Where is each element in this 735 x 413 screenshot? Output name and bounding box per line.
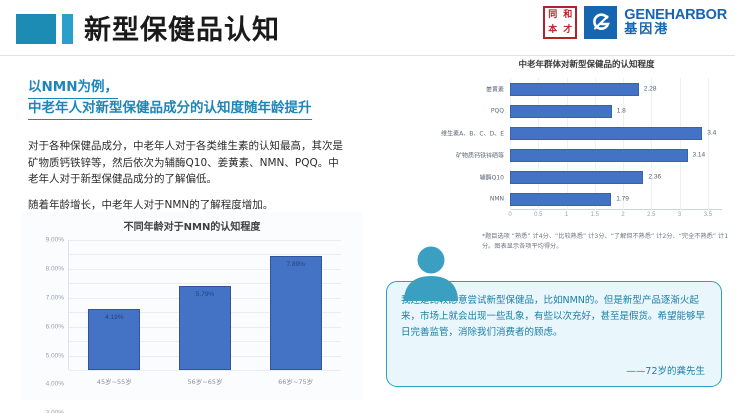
lead-heading: 以NMN为例， 中老年人对新型保健品成分的认知度随年龄提升 (28, 78, 368, 120)
bar-chart-category-label: 姜黄素 (486, 85, 504, 94)
column-chart-gridline: 9.00% (69, 240, 341, 241)
column-chart-bar-value: 4.19% (89, 314, 139, 321)
header-accent-block-small (62, 14, 73, 44)
body-text: 对于各种保健品成分，中老年人对于各类维生素的认知最高，其次是矿物质钙铁锌等，然后… (28, 138, 348, 213)
bar-chart-gridline (510, 78, 511, 210)
brand-name-cn: 基因港 (624, 23, 727, 37)
bar-chart-x-tick: 0 (508, 212, 511, 218)
bar-chart-gridline (708, 78, 709, 210)
quote-attribution: ——72岁的龚先生 (626, 363, 705, 377)
body-paragraph-1: 对于各种保健品成分，中老年人对于各类维生素的认知最高，其次是矿物质钙铁锌等，然后… (28, 138, 348, 188)
bar-chart-row: NMN1.79 (510, 193, 722, 206)
column-chart-y-tick: 9.00% (46, 237, 64, 244)
column-chart-x-tick: 66岁~75岁 (256, 376, 336, 386)
brand-text: GENEHARBOR 基因港 (624, 8, 727, 37)
seal-stamp-icon: 同 和 本 才 (543, 6, 577, 39)
bar-chart-gridline (595, 78, 596, 210)
bar-chart-bar-value: 2.28 (644, 86, 657, 93)
bar-chart-category-label: NMN (490, 196, 504, 203)
bar-chart-x-axis (510, 209, 722, 210)
page-title: 新型保健品认知 (84, 8, 280, 47)
bar-chart-category-label: PQQ (491, 108, 504, 115)
bar-chart-gridline (567, 78, 568, 210)
bar-chart-x-tick: 2 (621, 212, 624, 218)
lead-heading-line-1: 以NMN为例， (28, 78, 118, 99)
bar-chart-bar[interactable] (510, 127, 702, 140)
bar-chart-gridline (651, 78, 652, 210)
column-chart-x-tick: 56岁~65岁 (165, 376, 245, 386)
seal-char-2: 和 (560, 8, 575, 23)
bar-chart-x-tick: 2.5 (647, 212, 655, 218)
seal-char-1: 同 (545, 8, 560, 23)
bar-chart-row: PQQ1.8 (510, 105, 722, 118)
seal-char-3: 本 (545, 23, 560, 38)
column-chart-title: 不同年龄对于NMN的认知程度 (22, 218, 362, 233)
brand-name-en: GENEHARBOR (624, 8, 727, 23)
column-chart-plot-area: 0.00%1.00%2.00%3.00%4.00%5.00%6.00%7.00%… (68, 240, 340, 370)
bar-chart-plot-area: 00.511.522.533.5姜黄素2.28PQQ1.8维生素A、B、C、D、… (510, 78, 722, 210)
bar-chart-bar[interactable] (510, 105, 612, 118)
bar-chart-x-tick: 1 (565, 212, 568, 218)
logo-cluster: 同 和 本 才 GENEHARBOR 基因港 (543, 6, 727, 39)
bar-chart-x-tick: 3.5 (704, 212, 712, 218)
bar-chart-bar[interactable] (510, 193, 611, 206)
column-chart-y-tick: 6.00% (46, 323, 64, 330)
bar-chart-bar-value: 3.4 (707, 130, 716, 137)
header-divider (0, 55, 735, 56)
column-chart-y-tick: 8.00% (46, 265, 64, 272)
bar-chart-bar-value: 1.8 (617, 108, 626, 115)
bar-chart-bar-value: 2.36 (648, 174, 661, 181)
bar-chart-bar-value: 3.14 (693, 152, 706, 159)
column-chart-bar[interactable]: 4.19% (88, 309, 140, 370)
body-paragraph-2: 随着年龄增长，中老年人对于NMN的了解程度增加。 (28, 197, 348, 214)
column-chart-x-tick: 45岁~55岁 (74, 376, 154, 386)
column-chart-y-tick: 7.00% (46, 294, 64, 301)
bar-chart-x-tick: 3 (678, 212, 681, 218)
ingredient-awareness-bar-chart: 中老年群体对新型保健品的认知程度 00.511.522.533.5姜黄素2.28… (438, 58, 735, 228)
column-chart-y-tick: 4.00% (46, 381, 64, 388)
column-chart-y-tick: 5.00% (46, 352, 64, 359)
bar-chart-title: 中老年群体对新型保健品的认知程度 (438, 58, 735, 70)
bar-chart-bar[interactable] (510, 83, 639, 96)
column-chart-bar[interactable]: 5.79% (179, 286, 231, 370)
slide-header: 新型保健品认知 同 和 本 才 GENEHARBOR 基因港 (0, 0, 735, 56)
bar-chart-row: 矿物质钙铁锌硒等3.14 (510, 149, 722, 162)
column-chart-gridline: 0.00% (69, 370, 341, 371)
column-chart-bar-value: 7.89% (271, 261, 321, 268)
geneharbor-logo-icon (584, 6, 617, 39)
person-silhouette-icon (400, 243, 462, 301)
bar-chart-bar[interactable] (510, 149, 688, 162)
bar-chart-row: 辅酶Q102.36 (510, 171, 722, 184)
bar-chart-gridline (680, 78, 681, 210)
lead-heading-line-2: 中老年人对新型保健品成分的认知度随年龄提升 (28, 99, 312, 120)
bar-chart-row: 维生素A、B、C、D、E3.4 (510, 127, 722, 140)
bar-chart-row: 姜黄素2.28 (510, 83, 722, 96)
chart-footnote: *题目选项 “熟悉” 计4分、“比较熟悉” 计3分、“了解但不熟悉” 计2分、“… (482, 232, 732, 252)
bar-chart-category-label: 维生素A、B、C、D、E (441, 129, 504, 138)
bar-chart-category-label: 辅酶Q10 (480, 173, 504, 182)
column-chart-bar[interactable]: 7.89% (270, 256, 322, 370)
bar-chart-category-label: 矿物质钙铁锌硒等 (456, 151, 504, 160)
seal-char-4: 才 (560, 23, 575, 38)
bar-chart-x-tick: 1.5 (591, 212, 599, 218)
bar-chart-x-tick: 0.5 (534, 212, 542, 218)
bar-chart-bar-value: 1.79 (616, 196, 629, 203)
header-accent-block-large (16, 14, 56, 44)
bar-chart-gridline (623, 78, 624, 210)
bar-chart-gridline (538, 78, 539, 210)
column-chart-bar-value: 5.79% (180, 291, 230, 298)
slide-canvas: 新型保健品认知 同 和 本 才 GENEHARBOR 基因港 以NMN为例， (0, 0, 735, 413)
bar-chart-bar[interactable] (510, 171, 643, 184)
age-awareness-column-chart: 不同年龄对于NMN的认知程度 0.00%1.00%2.00%3.00%4.00%… (22, 212, 362, 400)
